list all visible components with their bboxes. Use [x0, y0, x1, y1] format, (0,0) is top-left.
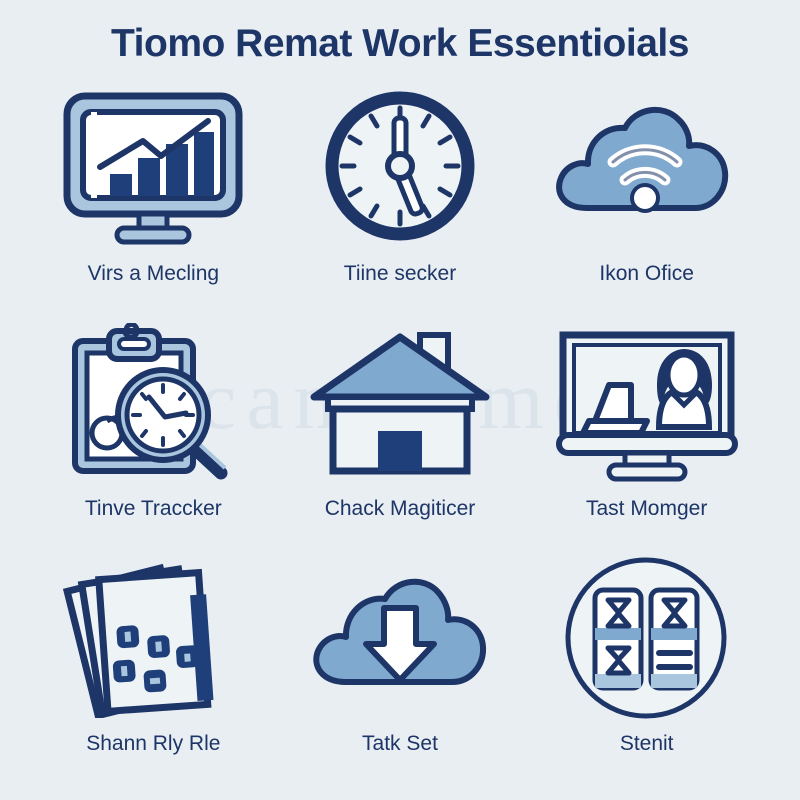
icon-cell-clipboard-tracker[interactable]: Tinve Traccker [30, 323, 277, 558]
clipboard-magnifier-clock-icon [53, 323, 253, 483]
clock-icon [300, 88, 500, 248]
icon-cell-documents[interactable]: Shann Rly Rle [30, 558, 277, 793]
monitor-person-laptop-icon [547, 323, 747, 483]
icon-label: Tiine secker [344, 262, 456, 286]
icon-cell-cloud-download[interactable]: Tatk Set [277, 558, 524, 793]
icon-label: Chack Magiticer [325, 497, 476, 521]
monitor-chart-icon [53, 88, 253, 248]
document-stack-icon [53, 558, 253, 718]
house-icon [300, 323, 500, 483]
icon-cell-monitor-chart[interactable]: Virs a Mecling [30, 88, 277, 323]
icon-label: Ikon Ofice [599, 262, 694, 286]
icon-cell-hourglass-panels[interactable]: Stenit [523, 558, 770, 793]
icon-label: Tast Momger [586, 497, 707, 521]
icon-grid: Virs a Mecling [30, 88, 770, 793]
icon-label: Virs a Mecling [88, 262, 220, 286]
cloud-wifi-icon [547, 88, 747, 248]
icon-label: Stenit [620, 732, 674, 756]
icon-cell-clock[interactable]: Tiine secker [277, 88, 524, 323]
icon-label: Tinve Traccker [85, 497, 222, 521]
page-title: Tiomo Remat Work Essentioials [0, 22, 800, 66]
icon-label: Tatk Set [362, 732, 438, 756]
poster: camstime Tiomo Remat Work Essentioials [0, 0, 800, 800]
hourglass-panels-circle-icon [547, 558, 747, 718]
icon-cell-house[interactable]: Chack Magiticer [277, 323, 524, 558]
icon-label: Shann Rly Rle [86, 732, 220, 756]
icon-cell-cloud-wifi[interactable]: Ikon Ofice [523, 88, 770, 323]
icon-cell-monitor-person[interactable]: Tast Momger [523, 323, 770, 558]
cloud-download-icon [300, 558, 500, 718]
